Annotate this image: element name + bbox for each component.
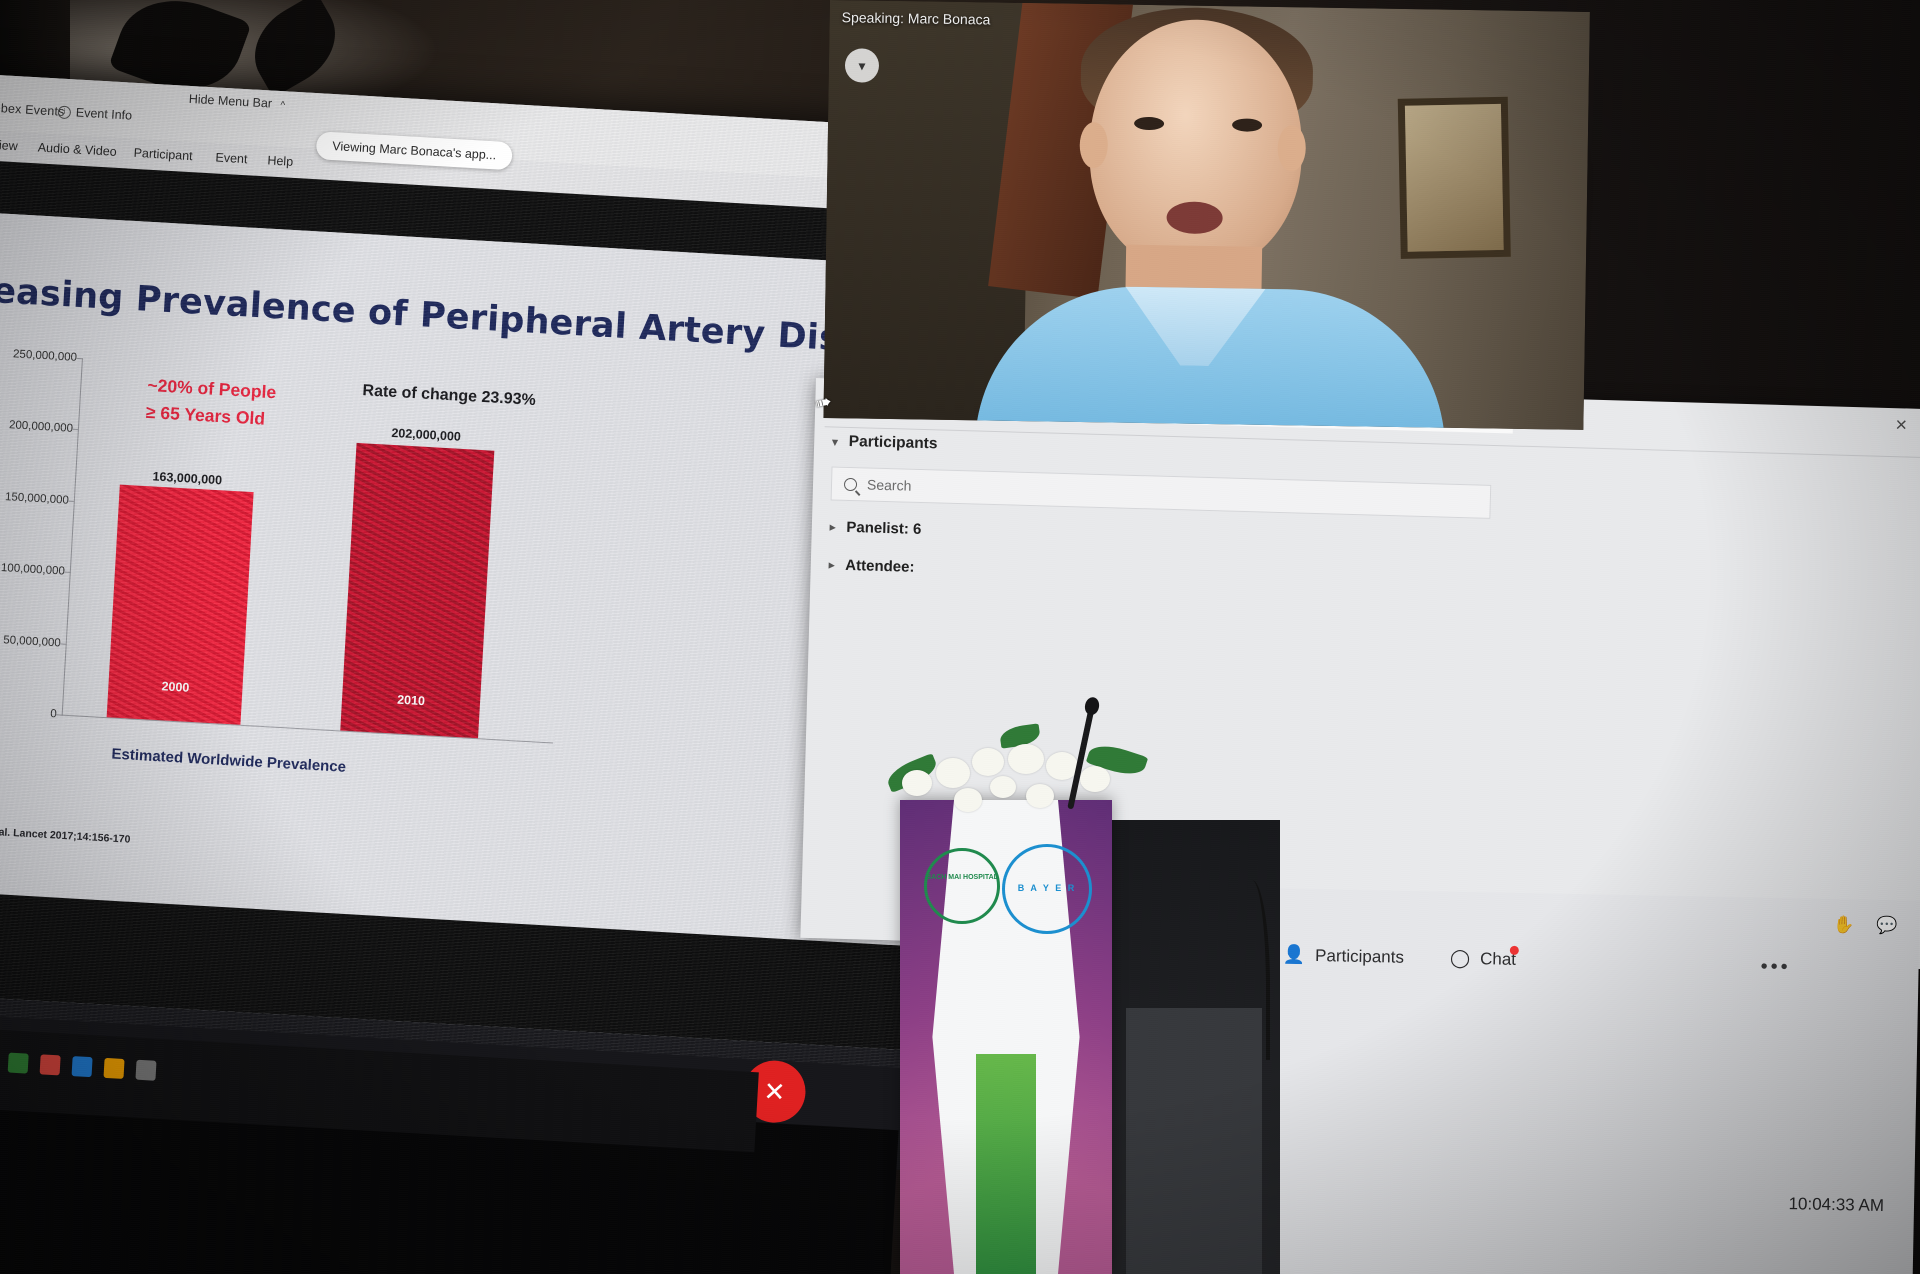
tick-mark <box>60 643 67 644</box>
photo-of-conference-screen: Cisco Webex Events i Event Info Hide Men… <box>0 0 1920 1274</box>
chevron-up-icon: ^ <box>280 100 285 111</box>
hide-menu-bar-label: Hide Menu Bar <box>188 92 272 111</box>
y-tick-250m: 250,000,000 <box>13 348 78 364</box>
webex-brand: Cisco Webex Events <box>0 97 65 119</box>
y-tick-50m: 50,000,000 <box>3 634 61 649</box>
hide-menu-bar-button[interactable]: Hide Menu Bar ^ <box>188 92 285 111</box>
bar-chart: People Living with PAD (Global Estimate)… <box>0 342 604 798</box>
tick-mark <box>76 358 83 359</box>
menu-audio-video[interactable]: Audio & Video <box>37 140 117 158</box>
speaker-head <box>1088 18 1304 273</box>
bottom-bar-more-button[interactable]: ••• <box>1760 956 1790 980</box>
y-tick-200m: 200,000,000 <box>9 420 74 436</box>
speaker-mouth <box>1166 201 1222 234</box>
search-icon <box>844 477 857 490</box>
bar-value-2010: 202,000,000 <box>391 426 461 444</box>
hospital-logo: BACH MAI HOSPITAL <box>924 848 1000 924</box>
tick-mark <box>56 714 63 715</box>
menu-event[interactable]: Event <box>215 150 248 166</box>
hospital-logo-text: BACH MAI HOSPITAL <box>924 874 1000 881</box>
y-tick-100m: 100,000,000 <box>1 562 66 578</box>
podium: BACH MAI HOSPITAL B A Y E R <box>900 800 1112 1274</box>
speaking-label: Speaking: Marc Bonaca <box>842 9 991 27</box>
chart-plot-area: 0 50,000,000 100,000,000 150,000,000 200… <box>62 358 574 743</box>
menu-help[interactable]: Help <box>267 153 293 168</box>
bayer-logo: B A Y E R <box>1002 844 1092 934</box>
search-placeholder: Search <box>867 476 912 493</box>
app-icon[interactable] <box>135 1060 156 1081</box>
close-panel-button[interactable]: × <box>1895 414 1907 437</box>
attendee-group-row[interactable]: ▸ Attendee: <box>829 556 915 575</box>
chat-button[interactable]: ◯ Chat <box>1450 948 1516 970</box>
menu-view[interactable]: View <box>0 138 18 154</box>
y-tick-150m: 150,000,000 <box>5 491 70 507</box>
participants-button-label: Participants <box>1315 946 1404 968</box>
tick-mark <box>68 500 75 501</box>
bottom-bar-icon-group: ✋ 💬 <box>1833 915 1898 936</box>
bottom-bar-buttons: 👤 Participants ◯ Chat <box>1283 944 1517 969</box>
info-icon: i <box>58 105 72 119</box>
event-info-button[interactable]: i Event Info <box>57 104 132 122</box>
speaker-video-tile[interactable]: Speaking: Marc Bonaca ▾ <box>823 0 1589 430</box>
podium-green-band <box>976 1054 1036 1274</box>
participants-section-label: Participants <box>849 433 938 453</box>
slide-title: Increasing Prevalence of Peripheral Arte… <box>0 267 934 365</box>
panel-divider <box>825 426 1920 458</box>
speaker-eye-left <box>1134 117 1164 130</box>
raise-hand-icon[interactable]: ✋ <box>1833 915 1855 935</box>
event-info-label: Event Info <box>75 105 132 122</box>
speaker-eye-right <box>1232 118 1262 131</box>
tick-mark <box>72 429 79 430</box>
bar-year-2010: 2010 <box>397 693 426 709</box>
browser-icon[interactable] <box>40 1054 61 1075</box>
annotation-elderly-share: ~20% of People ≥ 65 Years Old <box>145 372 277 433</box>
flower-arrangement <box>880 718 1160 828</box>
chevron-right-icon: ▸ <box>830 520 836 533</box>
video-picture-frame <box>1398 97 1511 259</box>
bar-year-2000: 2000 <box>161 679 190 695</box>
chevron-right-icon: ▸ <box>829 558 835 571</box>
menu-participant[interactable]: Participant <box>133 146 193 163</box>
panelist-group-row[interactable]: ▸ Panelist: 6 <box>830 518 922 538</box>
participant-search-input[interactable]: Search <box>831 466 1492 518</box>
bayer-logo-text: B A Y E R <box>1018 884 1077 893</box>
explorer-icon[interactable] <box>72 1056 93 1077</box>
webex-brand-label: Cisco Webex Events <box>0 98 65 119</box>
webex-bottom-bar: ✋ 💬 👤 Participants ◯ Chat ••• 10:04:33 A… <box>1255 888 1920 1274</box>
tick-mark <box>64 572 71 573</box>
reactions-icon[interactable]: 💬 <box>1876 916 1898 936</box>
slide-citation: Fowkes et al. Lancet 2017;14:156-170 <box>0 823 131 846</box>
taskbar-icon-group <box>8 1053 157 1081</box>
attendee-group-label: Attendee: <box>845 557 915 576</box>
panelist-group-label: Panelist: 6 <box>846 519 921 538</box>
app-icon[interactable] <box>103 1058 124 1079</box>
chat-icon: ◯ <box>1450 948 1471 969</box>
bar-value-2000: 163,000,000 <box>152 470 222 488</box>
chart-x-axis-label: Estimated Worldwide Prevalence <box>111 746 346 776</box>
participants-section-header[interactable]: ▾ Participants <box>832 432 938 453</box>
system-clock: 10:04:33 AM <box>1788 1194 1884 1216</box>
chevron-down-icon: ▾ <box>832 435 838 448</box>
participants-button[interactable]: 👤 Participants <box>1283 944 1405 967</box>
chat-unread-badge <box>1510 946 1519 955</box>
participants-icon: 👤 <box>1283 944 1306 965</box>
start-icon[interactable] <box>8 1053 29 1074</box>
